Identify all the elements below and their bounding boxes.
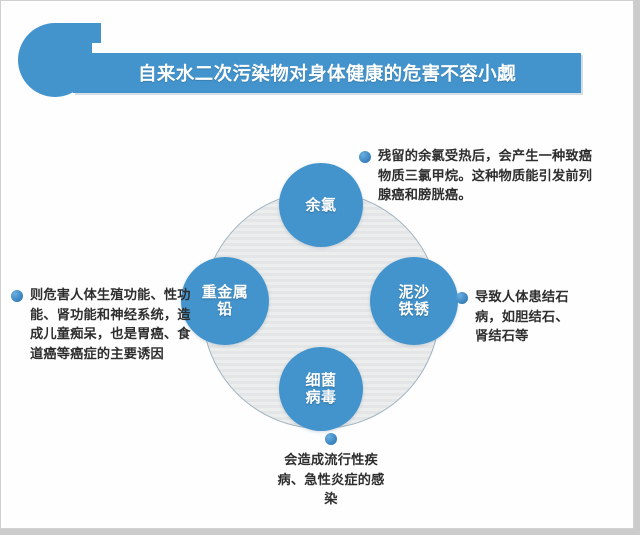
diagram-node-sediment-rust[interactable]: 泥沙 铁锈 [370,257,458,345]
node-label-line: 铅 [217,301,233,318]
callout-text: 会造成流行性疾病、急性炎症的感染 [275,451,387,510]
diagram-node-bacteria-virus[interactable]: 细菌 病毒 [279,347,363,431]
node-label-line: 细菌 [305,372,336,389]
callout-bacteria-virus: 会造成流行性疾病、急性炎症的感染 [251,433,411,510]
node-label-line: 余氯 [305,197,336,214]
callout-text: 导致人体患结石病，如胆结石、肾结石等 [475,288,571,347]
bullet-dot-icon [325,433,337,445]
title-banner: 自来水二次污染物对身体健康的危害不容小觑 [73,53,581,93]
infographic-canvas: 自来水二次污染物对身体健康的危害不容小觑 余氯 泥沙 铁锈 重金属 铅 细菌 病… [0,0,640,535]
callout-text: 残留的余氯受热后，会产生一种致癌物质三氯甲烷。这种物质能引发前列腺癌和膀胱癌。 [378,147,600,206]
infographic-frame: 自来水二次污染物对身体健康的危害不容小觑 余氯 泥沙 铁锈 重金属 铅 细菌 病… [0,0,634,529]
diagram-node-residual-chlorine[interactable]: 余氯 [279,163,363,247]
bullet-dot-icon [359,151,371,163]
radial-diagram: 余氯 泥沙 铁锈 重金属 铅 细菌 病毒 [202,191,440,429]
callout-heavy-metal-lead: 则危害人体生殖功能、性功能、肾功能和神经系统，造成儿童痴呆，也是胃癌、食道癌等癌… [11,286,196,364]
node-label-line: 泥沙 [398,284,429,301]
bullet-dot-icon [11,290,23,302]
callout-sediment-rust: 导致人体患结石病，如胆结石、肾结石等 [456,288,631,347]
callout-text: 则危害人体生殖功能、性功能、肾功能和神经系统，造成儿童痴呆，也是胃癌、食道癌等癌… [30,286,193,364]
node-label-line: 重金属 [202,284,249,301]
page-title: 自来水二次污染物对身体健康的危害不容小觑 [138,60,516,86]
node-label-line: 病毒 [305,389,336,406]
node-label-line: 铁锈 [398,301,429,318]
water-drop-tail [61,23,101,43]
bullet-dot-icon [456,292,468,304]
callout-residual-chlorine: 残留的余氯受热后，会产生一种致癌物质三氯甲烷。这种物质能引发前列腺癌和膀胱癌。 [359,147,609,206]
